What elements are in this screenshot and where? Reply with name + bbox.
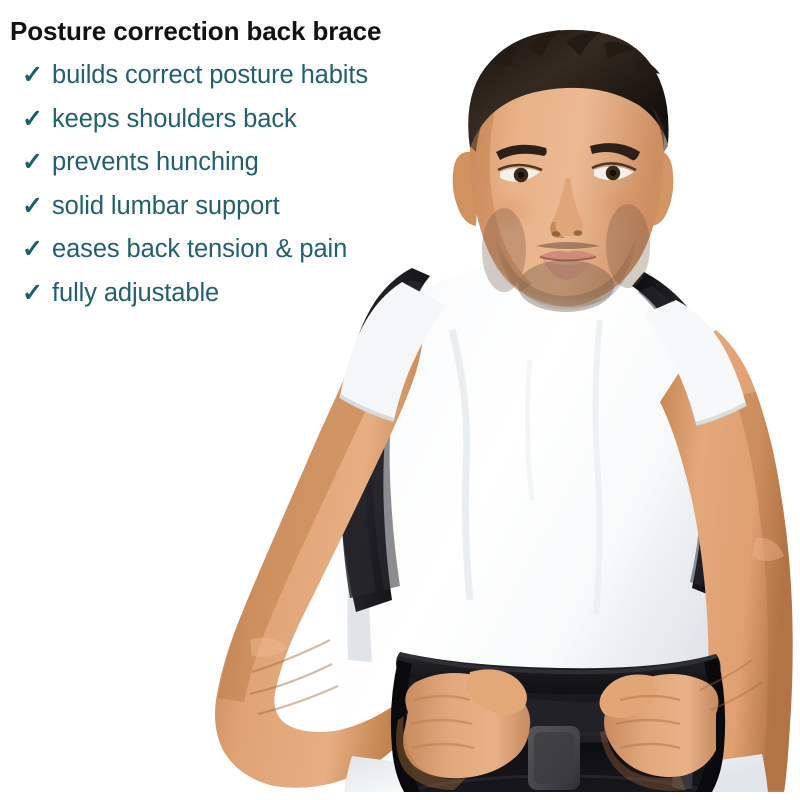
velcro-tab-inner: [534, 732, 574, 784]
eye-left-pupil: [518, 172, 524, 178]
beard-jaw-left: [482, 208, 526, 292]
beard-chin: [518, 260, 614, 312]
product-graphic: Posture correction back brace ✓ builds c…: [0, 0, 800, 800]
eye-right-pupil: [610, 170, 616, 176]
shirt-fold-b: [595, 320, 600, 614]
model-photo: [0, 0, 800, 800]
beard-jaw-right: [606, 204, 650, 288]
nostril-left: [552, 231, 561, 237]
nostril-right: [574, 230, 583, 236]
